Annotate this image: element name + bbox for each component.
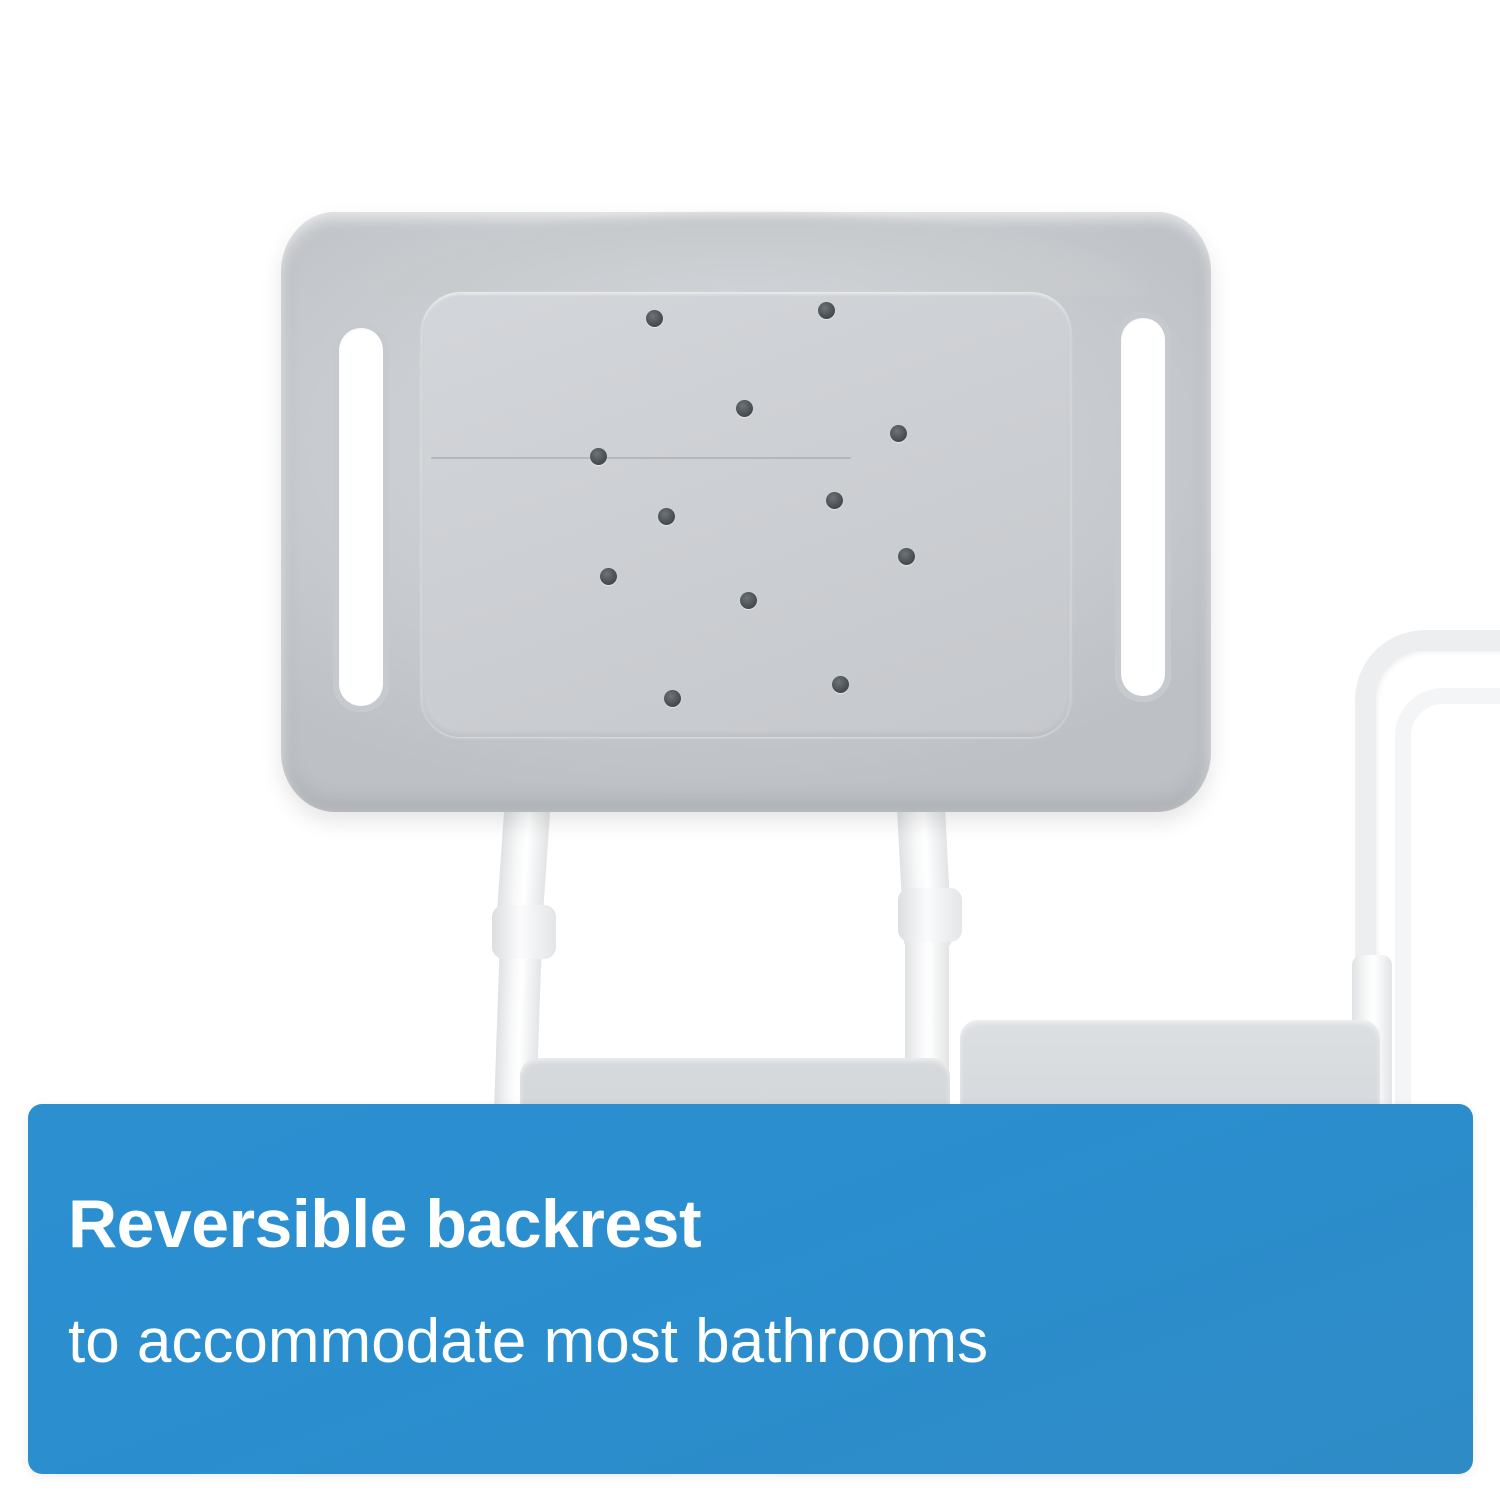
drain-hole: [832, 676, 849, 693]
drain-hole: [736, 400, 753, 417]
backrest-recessed-face: [421, 292, 1071, 737]
caption-title: Reversible backrest: [68, 1190, 701, 1258]
backrest-seam-line: [431, 457, 851, 459]
drain-hole: [590, 448, 607, 465]
post-clamp-right: [898, 888, 962, 942]
drain-hole: [898, 548, 915, 565]
drain-hole: [600, 568, 617, 585]
post-clamp-left: [492, 905, 556, 959]
drain-hole: [740, 592, 757, 609]
backrest-handle-slot-left: [333, 322, 389, 712]
backrest-panel: [281, 212, 1211, 812]
drain-hole: [826, 492, 843, 509]
caption-subtitle: to accommodate most bathrooms: [68, 1308, 988, 1376]
drain-hole: [646, 310, 663, 327]
drain-hole: [658, 508, 675, 525]
backrest-handle-slot-right: [1115, 312, 1171, 702]
drain-hole: [890, 425, 907, 442]
drain-hole: [664, 690, 681, 707]
caption-banner: Reversible backrest to accommodate most …: [28, 1104, 1473, 1474]
drain-hole: [818, 302, 835, 319]
armrest-frame-inner: [1395, 688, 1500, 1104]
product-marketing-image: Reversible backrest to accommodate most …: [0, 0, 1500, 1500]
